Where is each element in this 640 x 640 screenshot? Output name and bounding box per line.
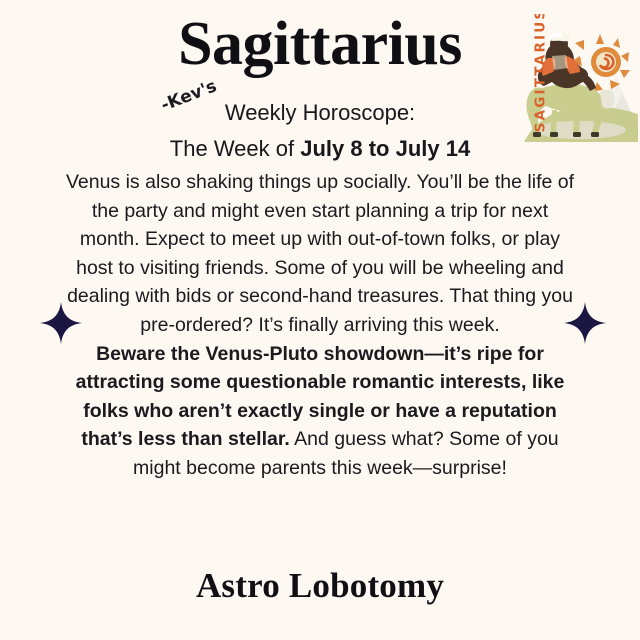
week-dates: July 8 to July 14 [300, 136, 470, 161]
sparkle-icon-right [562, 300, 608, 346]
page-title: Sagittarius [0, 12, 640, 77]
subheading-block: Weekly Horoscope: The Week of July 8 to … [0, 96, 640, 166]
subheading-weekly-horoscope: Weekly Horoscope: [225, 100, 415, 125]
horoscope-body: Venus is also shaking things up socially… [60, 168, 580, 483]
sparkle-icon-left [38, 300, 84, 346]
subheading-week-range: The Week of July 8 to July 14 [0, 132, 640, 166]
body-paragraph-2: Beware the Venus-Pluto showdown—it’s rip… [60, 340, 580, 483]
week-of-prefix: The Week of [170, 136, 300, 161]
brand-wordmark: Astro Lobotomy [0, 566, 640, 606]
body-paragraph-1: Venus is also shaking things up socially… [60, 168, 580, 340]
horoscope-poster: SAGITTARIUS Sagittarius -Kev's Weekly Ho… [0, 0, 640, 640]
